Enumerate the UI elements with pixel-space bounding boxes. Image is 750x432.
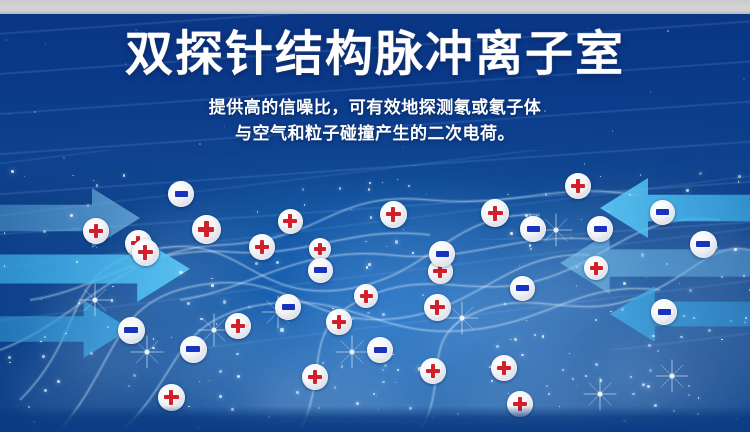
arrow-shape (0, 236, 190, 302)
plus-icon (594, 262, 598, 275)
negative-ion-token (650, 200, 675, 225)
plus-icon (431, 364, 435, 378)
arrow-right-upper (600, 178, 750, 238)
positive-ion-token (278, 209, 303, 234)
positive-ion-token (584, 256, 608, 280)
positive-ion-token (481, 199, 509, 227)
negative-ion-token (510, 276, 535, 301)
subtitle-text: 提供高的信噪比，可有效地探测氡或氡子体 与空气和粒子碰撞产生的二次电荷。 (0, 95, 750, 148)
plus-icon (94, 224, 98, 238)
minus-icon (175, 191, 188, 197)
plus-icon (313, 370, 317, 384)
background-bottom-shade (0, 406, 750, 432)
positive-ion-token (354, 284, 378, 308)
minus-icon (186, 346, 200, 352)
negative-ion-token (690, 231, 717, 258)
positive-ion-token (302, 364, 328, 390)
arrow-shape (0, 300, 130, 358)
negative-ion-token (367, 337, 393, 363)
negative-ion-token (180, 336, 207, 363)
minus-icon (282, 304, 295, 310)
positive-ion-token (491, 355, 517, 381)
page-title: 双探针结构脉冲离子室 (0, 28, 750, 81)
smoke-filament (180, 238, 600, 300)
headline-block: 双探针结构脉冲离子室 提供高的信噪比，可有效地探测氡或氡子体 与空气和粒子碰撞产… (0, 28, 750, 147)
positive-ion-token (309, 238, 331, 260)
positive-ion-token (326, 309, 352, 335)
minus-icon (696, 241, 710, 247)
negative-ion-token (308, 258, 333, 283)
plus-icon (260, 240, 264, 254)
plus-icon (318, 243, 322, 255)
negative-ion-token (168, 181, 194, 207)
minus-icon (527, 226, 540, 232)
minus-icon (594, 226, 607, 232)
minus-icon (314, 267, 327, 273)
smoke-filament (180, 238, 600, 300)
plus-icon (337, 315, 341, 329)
arrow-left-lower (0, 300, 130, 358)
arrow-left-mid (0, 236, 190, 302)
minus-icon (374, 347, 387, 353)
negative-ion-token (429, 241, 455, 267)
positive-ion-token (225, 313, 251, 339)
plus-icon (435, 300, 439, 315)
arrow-shape (600, 178, 750, 238)
plus-icon (493, 206, 497, 221)
minus-icon (124, 327, 138, 333)
plus-icon (502, 361, 506, 375)
plus-icon (169, 390, 173, 405)
negative-ion-token (651, 299, 677, 325)
positive-ion-token (192, 215, 221, 244)
plus-icon (204, 221, 209, 237)
positive-ion-token (83, 218, 109, 244)
plus-icon (143, 245, 147, 260)
plus-icon (236, 319, 240, 333)
positive-ion-token (565, 173, 591, 199)
arrow-shape (610, 286, 750, 342)
subtitle-line-2: 与空气和粒子碰撞产生的二次电荷。 (0, 121, 750, 147)
minus-icon (516, 285, 529, 291)
plus-icon (288, 214, 292, 228)
subtitle-line-1: 提供高的信噪比，可有效地探测氡或氡子体 (0, 95, 750, 121)
positive-ion-token (420, 358, 446, 384)
positive-ion-token (249, 234, 275, 260)
minus-icon (658, 309, 671, 315)
negative-ion-token (118, 317, 145, 344)
plus-icon (391, 207, 395, 222)
product-banner: 双探针结构脉冲离子室 提供高的信噪比，可有效地探测氡或氡子体 与空气和粒子碰撞产… (0, 0, 750, 432)
minus-icon (436, 251, 449, 257)
plus-icon (364, 290, 368, 303)
negative-ion-token (275, 294, 301, 320)
positive-ion-token (380, 201, 407, 228)
negative-ion-token (587, 216, 613, 242)
plus-icon (576, 179, 580, 193)
negative-ion-token (520, 216, 546, 242)
top-divider-strip (0, 0, 750, 14)
positive-ion-token (424, 294, 451, 321)
arrow-right-lower (610, 286, 750, 342)
positive-ion-token (132, 239, 159, 266)
minus-icon (656, 209, 669, 215)
